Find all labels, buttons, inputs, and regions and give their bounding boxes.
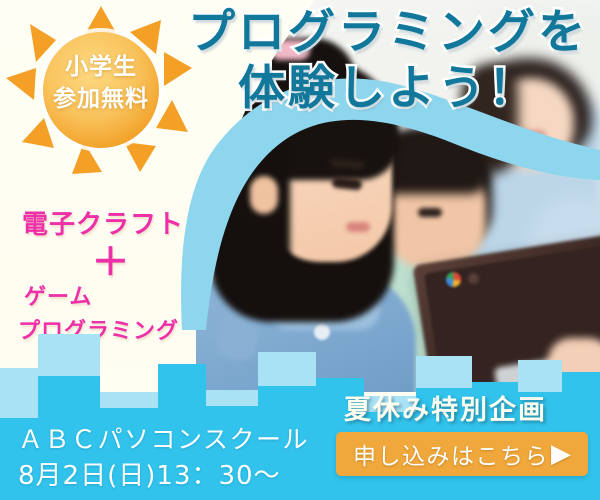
free-participation-badge: 小学生 参加無料: [6, 6, 196, 174]
badge-line-2: 参加無料: [6, 84, 196, 116]
promo-banner: 小学生 参加無料 プログラミングを 体験しよう！ 電子クラフト ＋ ゲーム プロ…: [0, 0, 600, 500]
headline-line-1: プログラミングを: [182, 8, 594, 58]
apply-button[interactable]: 申し込みはこちら ▶: [336, 432, 588, 476]
photo-teacher-smile: [512, 130, 546, 142]
headline-line-2: 体験しよう！: [182, 64, 594, 114]
photo-girl-lip: [346, 222, 370, 232]
badge-line-1: 小学生: [6, 52, 196, 84]
event-datetime: 8月2日(日)13：30〜: [18, 455, 281, 492]
apply-button-label: 申し込みはこちら: [353, 437, 549, 471]
photo-girl-ear: [250, 176, 278, 214]
course-item-electronic-craft: 電子クラフト: [0, 204, 210, 241]
photo-boy-eye: [418, 208, 442, 217]
course-plus-icon: ＋: [0, 243, 210, 281]
pixel-block: [158, 364, 206, 426]
arrow-right-icon: ▶: [551, 441, 571, 467]
badge-text: 小学生 参加無料: [6, 52, 196, 115]
special-plan-label: 夏休み特別企画: [344, 388, 547, 427]
headline: プログラミングを 体験しよう！: [182, 8, 594, 114]
photo-laptop-logo-dot-icon: [468, 273, 479, 284]
school-name: ＡＢＣパソコンスクール: [18, 420, 309, 456]
photo-laptop-logo-icon: [446, 272, 461, 287]
